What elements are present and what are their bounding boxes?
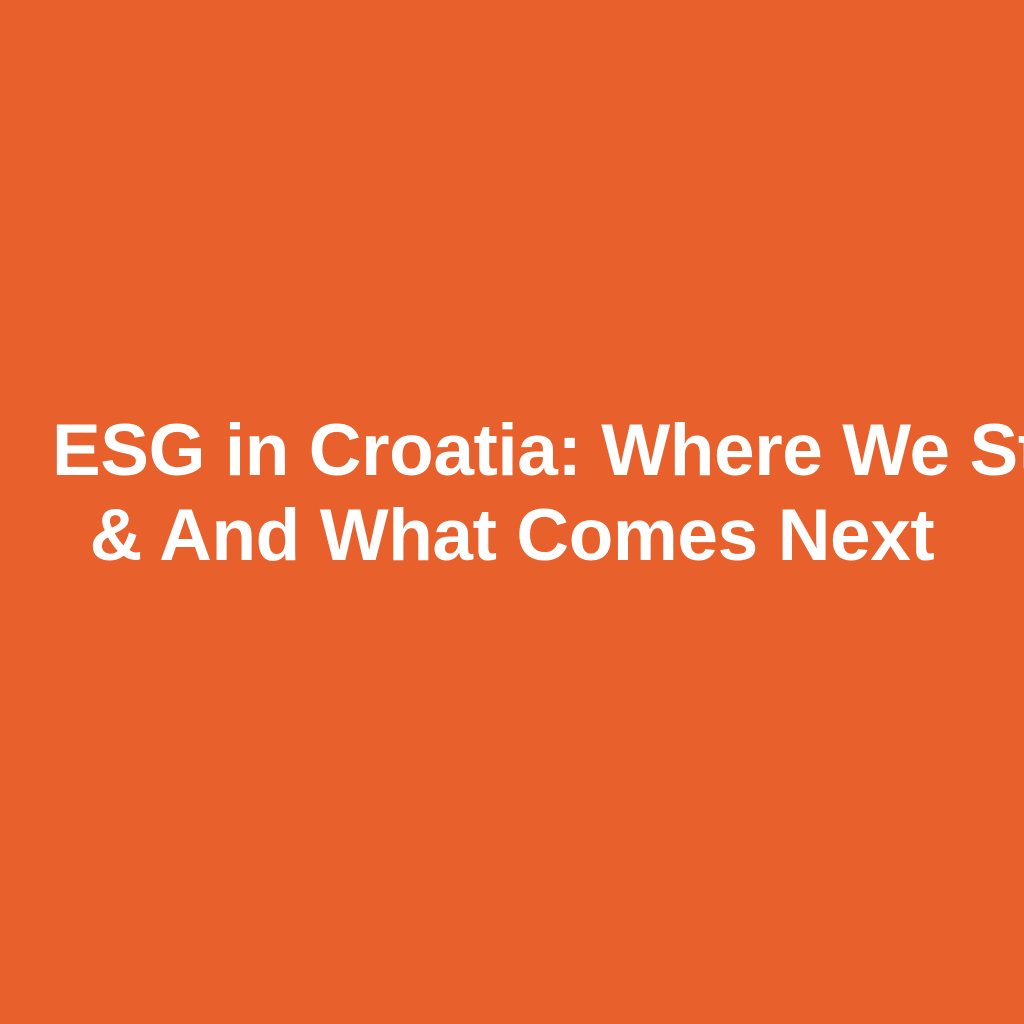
title-card-banner: ESG in Croatia: Where We Stand & And Wha… (0, 0, 1024, 1024)
title-block: ESG in Croatia: Where We Stand & And Wha… (0, 408, 1024, 578)
title-line-1: ESG in Croatia: Where We Stand (52, 408, 972, 493)
title-line-2: & And What Comes Next (52, 493, 972, 578)
